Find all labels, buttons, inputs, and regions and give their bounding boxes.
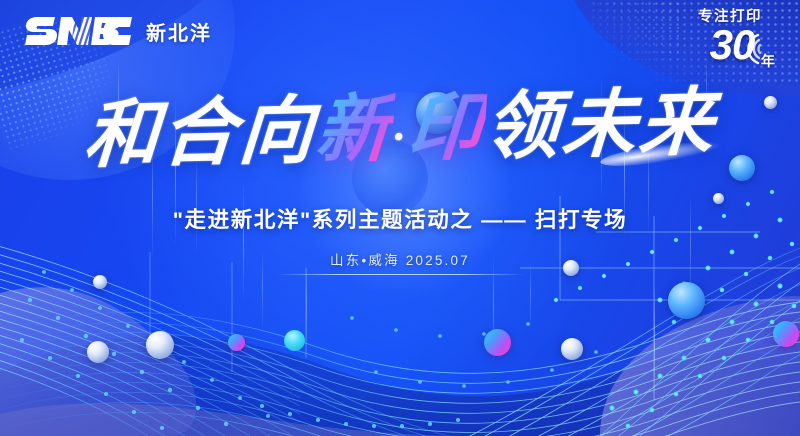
event-location-date: 山东•威海 2025.07 — [276, 249, 524, 275]
sphere-blue-2 — [668, 282, 705, 319]
sphere-white-5 — [561, 338, 583, 360]
company-name-cn: 新北洋 — [146, 17, 212, 46]
event-banner: 新北洋 专注打印 30 年 和合向新·印领未来 "走进新北洋"系列主题活动之 —… — [0, 0, 800, 436]
sphere-mag-2 — [484, 329, 511, 356]
anniversary-unit: 年 — [761, 51, 775, 71]
title-part-3-gradient: 新 — [313, 89, 396, 173]
title-block: 和合向新·印领未来 — [0, 92, 800, 170]
title-part-1: 和合 — [82, 92, 242, 177]
sphere-white-1 — [93, 275, 107, 289]
title-part-2: 向 — [236, 91, 319, 175]
sphere-cyan-1 — [284, 330, 305, 351]
title-part-4-gradient: 印 — [405, 87, 488, 171]
sphere-white-2 — [146, 331, 174, 359]
sphere-white-7 — [713, 193, 724, 204]
main-title: 和合向新·印领未来 — [82, 85, 719, 176]
anniversary-number-block: 30 年 — [678, 27, 782, 73]
anniversary-badge: 专注打印 30 年 — [678, 10, 782, 73]
sphere-white-3 — [87, 341, 109, 363]
snbc-logo-mark-icon — [25, 14, 133, 48]
sphere-mag-1 — [228, 334, 245, 351]
meta-block: 山东•威海 2025.07 — [0, 249, 800, 275]
subtitle: "走进新北洋"系列主题活动之 —— 扫打专场 — [0, 203, 800, 234]
sphere-mag-3 — [773, 321, 799, 347]
snbc-logo[interactable]: 新北洋 — [25, 14, 212, 48]
